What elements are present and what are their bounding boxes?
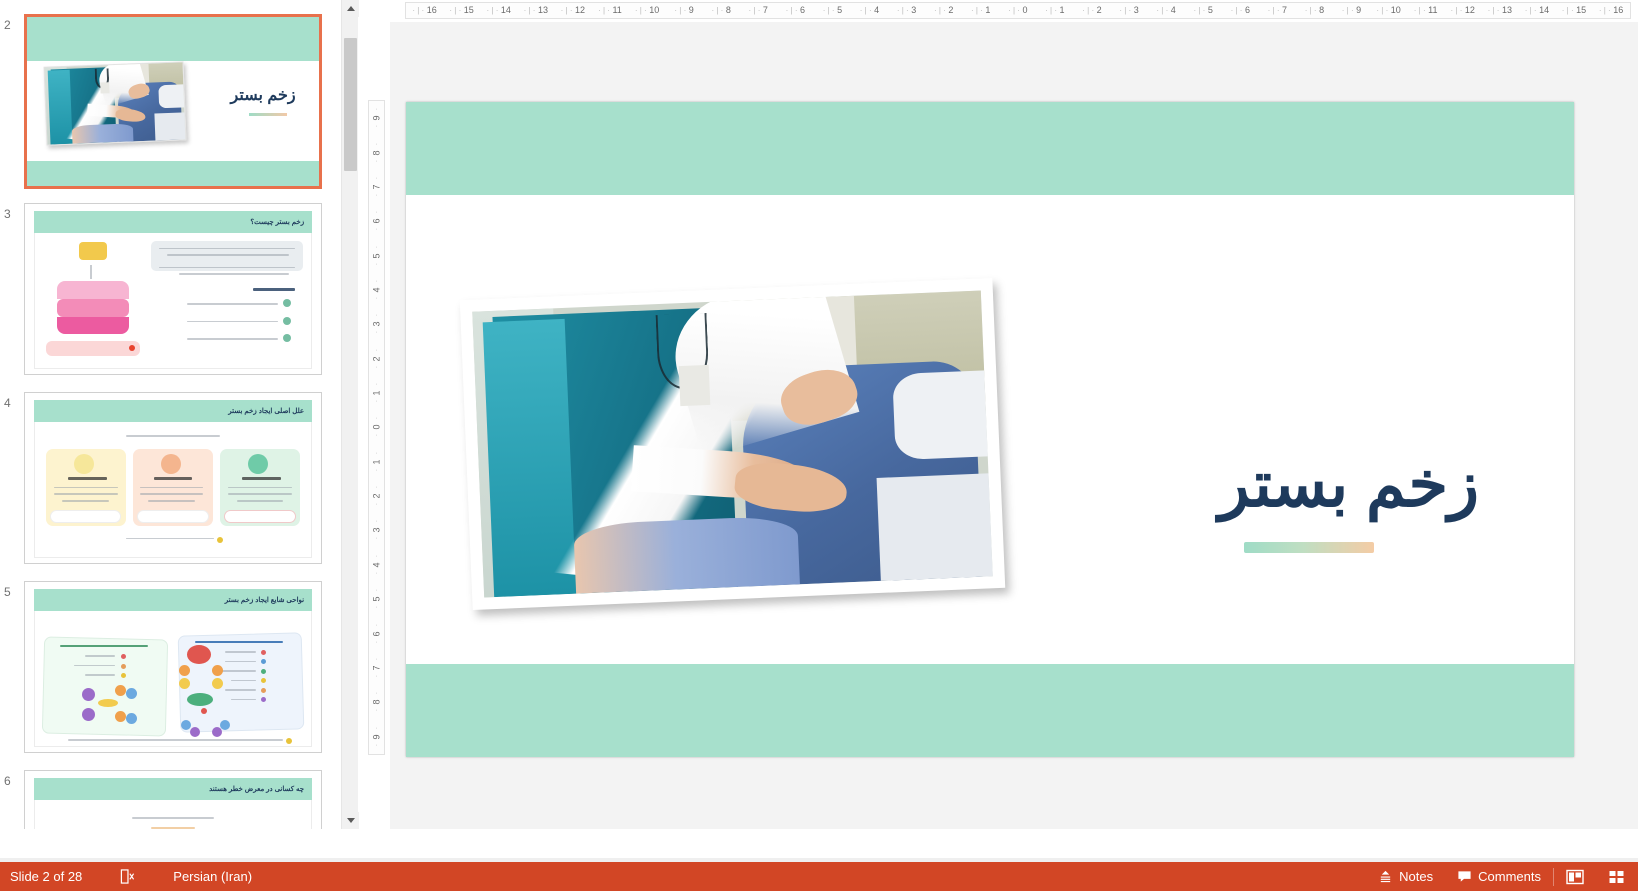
ruler-tick: · | · 12: [1444, 3, 1481, 18]
thumb-header-band: زخم بستر چیست؟: [34, 211, 312, 233]
thumbnail-slide-2[interactable]: 2: [0, 14, 339, 194]
ruler-tick: · | · 12: [554, 3, 591, 18]
thumbnail-frame[interactable]: زخم بستر چیست؟: [24, 203, 322, 375]
thumb-title-underline: [249, 113, 287, 116]
thumb-header-band: نواحی شایع ایجاد زخم بستر: [34, 589, 312, 611]
status-bar: Slide 2 of 28 Persian (Iran) Notes: [0, 862, 1638, 891]
ruler-tick: ·6·: [369, 204, 384, 238]
ruler-tick: ·2·: [369, 342, 384, 376]
ruler-tick: · | · 13: [517, 3, 554, 18]
ruler-tick: ·3·: [369, 307, 384, 341]
ruler-tick: · | · 3: [888, 3, 925, 18]
ruler-tick: · | · 13: [1481, 3, 1518, 18]
thumb-photo: [43, 62, 186, 147]
ruler-tick: · | · 4: [851, 3, 888, 18]
thumb-body: [34, 800, 312, 829]
thumbnail-number: 6: [4, 774, 22, 788]
ruler-tick: ·8·: [369, 685, 384, 719]
powerpoint-window: 2: [0, 0, 1638, 891]
scroll-up-arrow-icon: [347, 6, 355, 11]
ruler-tick: ·9·: [369, 101, 384, 135]
ruler-tick: ·5·: [369, 582, 384, 616]
thumbnail-slide-6[interactable]: 6 چه کسانی در معرض خطر هستند: [0, 770, 339, 829]
ruler-tick: · | · 6: [777, 3, 814, 18]
vertical-ruler[interactable]: ·9··8··7··6··5··4··3··2··1··0··1··2··3··…: [368, 100, 385, 755]
ruler-tick: · | · 15: [1555, 3, 1592, 18]
scroll-up-button[interactable]: [342, 0, 359, 17]
thumb-title: علل اصلی ایجاد زخم بستر: [228, 407, 304, 415]
ruler-tick: · | · 8: [1296, 3, 1333, 18]
ruler-tick: ·1·: [369, 445, 384, 479]
language-indicator[interactable]: Persian (Iran): [161, 862, 264, 891]
ruler-tick: · | · 10: [1370, 3, 1407, 18]
ruler-tick: ·2·: [369, 479, 384, 513]
ruler-tick: · | · 0: [999, 3, 1036, 18]
ruler-tick: · | · 16: [1593, 3, 1630, 18]
ruler-tick: ·7·: [369, 170, 384, 204]
ruler-tick: ·4·: [369, 273, 384, 307]
thumbnail-frame-selected[interactable]: زخم بستر: [24, 14, 322, 189]
thumbnail-frame[interactable]: نواحی شایع ایجاد زخم بستر: [24, 581, 322, 753]
current-slide[interactable]: زخم بستر: [406, 102, 1574, 757]
ruler-tick: · | · 9: [666, 3, 703, 18]
ruler-tick: · | · 16: [406, 3, 443, 18]
comments-button[interactable]: Comments: [1445, 862, 1553, 891]
thumb-header-band: علل اصلی ایجاد زخم بستر: [34, 400, 312, 422]
thumb-title: زخم بستر چیست؟: [250, 218, 304, 226]
thumbnail-frame[interactable]: علل اصلی ایجاد زخم بستر: [24, 392, 322, 564]
slide-band-bottom: [406, 664, 1574, 757]
thumb-title: چه کسانی در معرض خطر هستند: [209, 785, 304, 793]
title-underline-accent: [1244, 542, 1374, 553]
normal-view-icon: [1566, 869, 1584, 885]
thumbnail-frame[interactable]: چه کسانی در معرض خطر هستند: [24, 770, 322, 829]
thumb-body: [34, 611, 312, 747]
thumbnail-number: 2: [4, 18, 22, 32]
thumb-band-bottom: [27, 161, 319, 186]
comments-icon: [1457, 869, 1472, 884]
thumbnail-slide-5[interactable]: 5 نواحی شایع ایجاد زخم بستر: [0, 581, 339, 761]
ruler-tick: · | · 1: [1036, 3, 1073, 18]
thumbnail-number: 5: [4, 585, 22, 599]
thumbnail-number: 4: [4, 396, 22, 410]
thumb-band-top: [27, 17, 319, 61]
nurse-repositioning-patient-photo: [472, 290, 993, 597]
ruler-tick: · | · 15: [443, 3, 480, 18]
ruler-tick: · | · 10: [628, 3, 665, 18]
ruler-tick: ·8·: [369, 135, 384, 169]
thumb-title: نواحی شایع ایجاد زخم بستر: [225, 596, 304, 604]
slide-image-placeholder[interactable]: [460, 278, 1006, 610]
notes-label: Notes: [1399, 869, 1433, 884]
ruler-tick: · | · 4: [1148, 3, 1185, 18]
notes-button[interactable]: Notes: [1366, 862, 1445, 891]
ruler-tick: · | · 2: [1073, 3, 1110, 18]
thumbnail-pane-scrollbar[interactable]: [341, 0, 358, 829]
ruler-tick: · | · 7: [740, 3, 777, 18]
ruler-tick: · | · 5: [814, 3, 851, 18]
scrollbar-thumb[interactable]: [344, 38, 357, 171]
slide-indicator[interactable]: Slide 2 of 28: [10, 862, 94, 891]
ruler-tick: · | · 14: [1518, 3, 1555, 18]
thumb-body: [34, 233, 312, 369]
thumbnail-slide-3[interactable]: 3 زخم بستر چیست؟: [0, 203, 339, 383]
ruler-tick: · | · 14: [480, 3, 517, 18]
ruler-tick: · | · 11: [1407, 3, 1444, 18]
ruler-tick: · | · 6: [1222, 3, 1259, 18]
slide-editing-area[interactable]: زخم بستر: [390, 22, 1638, 829]
thumbnail-slide-4[interactable]: 4 علل اصلی ایجاد زخم بستر: [0, 392, 339, 572]
thumb-header-band: چه کسانی در معرض خطر هستند: [34, 778, 312, 800]
thumb-body: [34, 422, 312, 558]
notes-icon: [1378, 869, 1393, 884]
ruler-tick: ·4·: [369, 548, 384, 582]
ruler-tick: ·9·: [369, 719, 384, 753]
ruler-tick: · | · 11: [591, 3, 628, 18]
ruler-tick: · | · 3: [1110, 3, 1147, 18]
slide-thumbnail-pane[interactable]: 2: [0, 0, 339, 829]
ruler-tick: ·0·: [369, 410, 384, 444]
scroll-down-arrow-icon: [347, 818, 355, 823]
ruler-tick: ·5·: [369, 238, 384, 272]
slide-title[interactable]: زخم بستر: [1219, 447, 1479, 522]
ruler-tick: ·6·: [369, 616, 384, 650]
comments-label: Comments: [1478, 869, 1541, 884]
ruler-tick: ·3·: [369, 513, 384, 547]
slide-sorter-view-button[interactable]: [1596, 862, 1638, 891]
slide-band-top: [406, 102, 1574, 195]
ruler-tick: ·1·: [369, 376, 384, 410]
thumbnail-number: 3: [4, 207, 22, 221]
scroll-down-button[interactable]: [342, 812, 359, 829]
ruler-tick: · | · 7: [1259, 3, 1296, 18]
horizontal-ruler[interactable]: · | · 16· | · 15· | · 14· | · 13· | · 12…: [405, 2, 1631, 19]
ruler-tick: · | · 5: [1185, 3, 1222, 18]
ruler-tick: · | · 2: [925, 3, 962, 18]
ruler-tick: ·7·: [369, 651, 384, 685]
thumb-title: زخم بستر: [231, 85, 296, 105]
slide-sorter-icon: [1608, 869, 1626, 885]
ruler-tick: · | · 1: [962, 3, 999, 18]
accessibility-checker-icon[interactable]: [108, 862, 147, 891]
normal-view-button[interactable]: [1554, 862, 1596, 891]
ruler-tick: · | · 8: [703, 3, 740, 18]
ruler-tick: · | · 9: [1333, 3, 1370, 18]
